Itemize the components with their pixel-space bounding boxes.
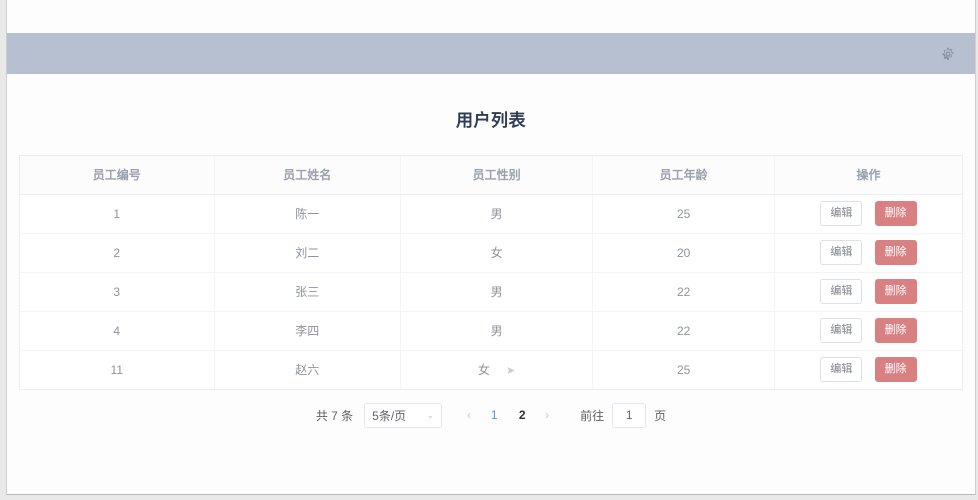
gear-icon[interactable] — [941, 47, 955, 61]
cell-operations: 编辑 删除 — [775, 194, 962, 233]
browser-page: 用户列表 员工编号 员工姓名 员工性别 员工年龄 操作 — [6, 0, 976, 495]
cell-employee-age: 25 — [593, 350, 775, 389]
cell-employee-age: 22 — [593, 272, 775, 311]
cell-employee-name: 陈一 — [214, 194, 401, 233]
pagination-total: 共 7 条 — [316, 407, 353, 424]
cell-employee-age: 25 — [593, 194, 775, 233]
cell-employee-gender: 女➤ — [401, 350, 593, 389]
cell-employee-gender: 男 — [401, 311, 593, 350]
prev-page-button[interactable]: ‹ — [458, 408, 480, 422]
mouse-cursor-icon: ➤ — [506, 364, 515, 377]
jump-suffix-label: 页 — [654, 407, 666, 424]
cell-employee-age: 20 — [593, 233, 775, 272]
table-header-row: 员工编号 员工姓名 员工性别 员工年龄 操作 — [20, 156, 962, 194]
delete-button[interactable]: 删除 — [875, 357, 917, 382]
table-row: 4 李四 男 22 编辑 删除 — [20, 311, 962, 350]
cell-employee-gender: 男 — [401, 194, 593, 233]
page-number-1[interactable]: 1 — [483, 408, 505, 422]
cell-employee-gender: 女 — [401, 233, 593, 272]
table-row: 2 刘二 女 20 编辑 删除 — [20, 233, 962, 272]
cell-employee-id: 1 — [20, 194, 214, 233]
table-row: 1 陈一 男 25 编辑 删除 — [20, 194, 962, 233]
cell-employee-name: 张三 — [214, 272, 401, 311]
page-title: 用户列表 — [7, 74, 975, 131]
table-row: 11 赵六 女➤ 25 编辑 删除 — [20, 350, 962, 389]
delete-button[interactable]: 删除 — [875, 318, 917, 343]
jump-page-input[interactable] — [612, 403, 646, 428]
chevron-down-icon: ⌄ — [427, 410, 435, 421]
cell-operations: 编辑 删除 — [775, 272, 962, 311]
cell-employee-name: 李四 — [214, 311, 401, 350]
user-table: 员工编号 员工姓名 员工性别 员工年龄 操作 1 陈一 男 25 — [20, 156, 962, 390]
cell-employee-id: 4 — [20, 311, 214, 350]
page-size-select[interactable]: 5条/页 ⌄ — [364, 403, 442, 428]
cell-employee-name: 赵六 — [214, 350, 401, 389]
delete-button[interactable]: 删除 — [875, 201, 917, 226]
cell-employee-gender: 男 — [401, 272, 593, 311]
page-number-2[interactable]: 2 — [511, 408, 533, 422]
column-header-employee-age: 员工年龄 — [593, 156, 775, 194]
page-size-value: 5条/页 — [372, 407, 406, 424]
cell-operations: 编辑 删除 — [775, 311, 962, 350]
edit-button[interactable]: 编辑 — [820, 318, 862, 343]
cell-operations: 编辑 删除 — [775, 233, 962, 272]
cell-employee-age: 22 — [593, 311, 775, 350]
column-header-operations: 操作 — [775, 156, 962, 194]
edit-button[interactable]: 编辑 — [820, 357, 862, 382]
cell-operations: 编辑 删除 — [775, 350, 962, 389]
cell-employee-id: 3 — [20, 272, 214, 311]
cell-employee-id: 2 — [20, 233, 214, 272]
main-content: 用户列表 员工编号 员工姓名 员工性别 员工年龄 操作 — [7, 74, 975, 494]
user-table-container: 员工编号 员工姓名 员工性别 员工年龄 操作 1 陈一 男 25 — [19, 155, 963, 390]
column-header-employee-gender: 员工性别 — [401, 156, 593, 194]
edit-button[interactable]: 编辑 — [820, 240, 862, 265]
delete-button[interactable]: 删除 — [875, 279, 917, 304]
pagination: 共 7 条 5条/页 ⌄ ‹ 1 2 › 前往 页 — [7, 403, 975, 428]
screen: 用户列表 员工编号 员工姓名 员工性别 员工年龄 操作 — [0, 0, 978, 500]
table-row: 3 张三 男 22 编辑 删除 — [20, 272, 962, 311]
app-header-banner — [7, 33, 975, 74]
cell-employee-name: 刘二 — [214, 233, 401, 272]
column-header-employee-id: 员工编号 — [20, 156, 214, 194]
delete-button[interactable]: 删除 — [875, 240, 917, 265]
jump-label: 前往 — [580, 407, 604, 424]
edit-button[interactable]: 编辑 — [820, 201, 862, 226]
gender-value: 女 — [478, 363, 490, 377]
column-header-employee-name: 员工姓名 — [214, 156, 401, 194]
edit-button[interactable]: 编辑 — [820, 279, 862, 304]
next-page-button[interactable]: › — [536, 408, 558, 422]
cell-employee-id: 11 — [20, 350, 214, 389]
